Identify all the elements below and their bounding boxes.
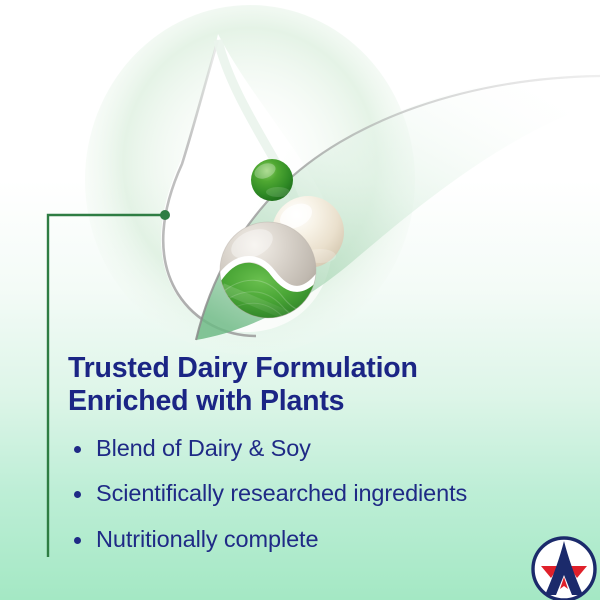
abbott-a-logo <box>528 533 600 600</box>
copy-block: Trusted Dairy Formulation Enriched with … <box>68 352 588 573</box>
benefit-list: Blend of Dairy & Soy Scientifically rese… <box>68 437 588 552</box>
list-item-label: Blend of Dairy & Soy <box>96 435 311 461</box>
bullet-dot-icon <box>74 446 81 453</box>
promo-graphic-canvas: Trusted Dairy Formulation Enriched with … <box>0 0 600 600</box>
list-item-label: Scientifically researched ingredients <box>96 480 467 506</box>
cream-pearl-sphere <box>272 196 344 268</box>
water-droplet-shape <box>161 34 332 336</box>
list-item: Scientifically researched ingredients <box>68 482 588 506</box>
droplet-glow <box>85 5 415 355</box>
page-title: Trusted Dairy Formulation Enriched with … <box>68 352 588 419</box>
bullet-dot-icon <box>74 491 81 498</box>
green-sphere <box>251 159 293 201</box>
list-item-label: Nutritionally complete <box>96 526 318 552</box>
list-item: Blend of Dairy & Soy <box>68 437 588 461</box>
bullet-dot-icon <box>74 537 81 544</box>
green-leaf-swoosh <box>196 74 600 340</box>
connector-endpoint-dot <box>160 210 170 220</box>
split-leaf-sphere <box>216 222 324 330</box>
list-item: Nutritionally complete <box>68 528 588 552</box>
